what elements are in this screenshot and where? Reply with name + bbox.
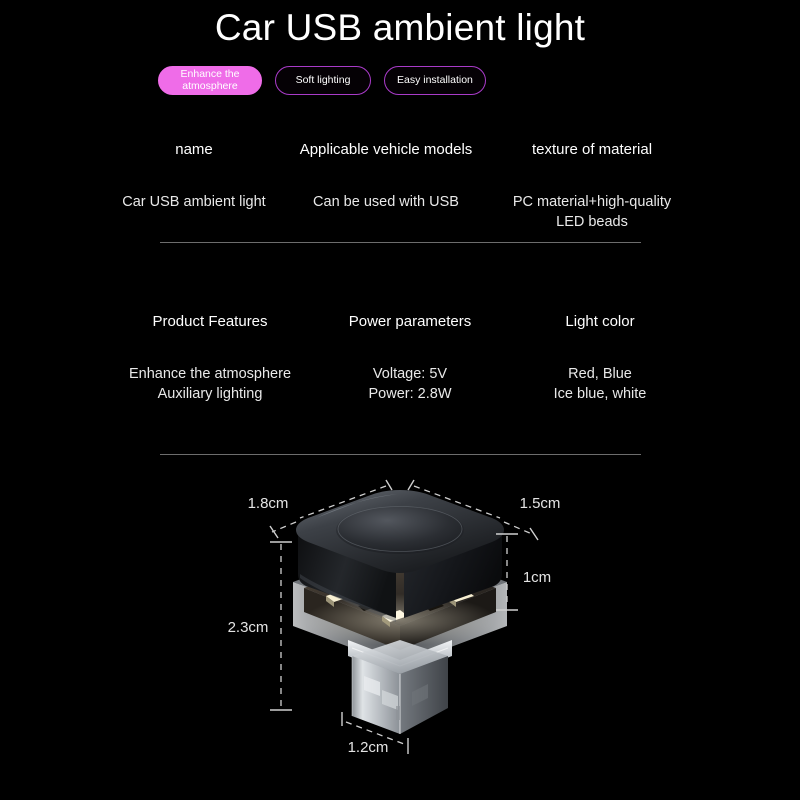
dimension-label-connector-width: 1.2cm: [348, 739, 389, 756]
spec-header-product-features: Product Features: [100, 312, 320, 332]
spec-value-texture-of-material: PC material+high-quality LED beads: [484, 192, 700, 232]
spec-header-name: name: [100, 140, 288, 160]
badge-enhance-the-atmosphere[interactable]: Enhance the atmosphere: [158, 66, 262, 95]
spec-table-features: Product Features Power parameters Light …: [100, 312, 700, 404]
spec-header-texture-of-material: texture of material: [484, 140, 700, 160]
dimension-label-top-right: 1.5cm: [520, 495, 561, 512]
spec-header-applicable-vehicle-models: Applicable vehicle models: [288, 140, 484, 160]
dimension-label-head-height: 1cm: [523, 569, 551, 586]
spec-value-row: Enhance the atmosphere Auxiliary lightin…: [100, 364, 700, 404]
spec-value-product-features: Enhance the atmosphere Auxiliary lightin…: [100, 364, 320, 404]
spec-value-power-parameters: Voltage: 5V Power: 2.8W: [320, 364, 500, 404]
spec-header-row: Product Features Power parameters Light …: [100, 312, 700, 332]
usb-connector: [352, 640, 448, 734]
spec-value-light-color: Red, Blue Ice blue, white: [500, 364, 700, 404]
spec-table-general: name Applicable vehicle models texture o…: [100, 140, 700, 232]
badge-soft-lighting[interactable]: Soft lighting: [275, 66, 371, 95]
spec-header-light-color: Light color: [500, 312, 700, 332]
page-title: Car USB ambient light: [0, 6, 800, 50]
section-divider-1: [160, 242, 641, 243]
dimension-label-total-height: 2.3cm: [228, 619, 269, 636]
spec-value-row: Car USB ambient light Can be used with U…: [100, 192, 700, 232]
badge-easy-installation[interactable]: Easy installation: [384, 66, 486, 95]
spec-value-applicable-vehicle-models: Can be used with USB: [288, 192, 484, 232]
product-illustration: 1.8cm 1.5cm 2.3cm 1cm 1.2cm: [0, 470, 800, 800]
dimension-label-top-left: 1.8cm: [248, 495, 289, 512]
spec-header-row: name Applicable vehicle models texture o…: [100, 140, 700, 160]
spec-value-name: Car USB ambient light: [100, 192, 288, 232]
feature-badge-row: Enhance the atmosphere Soft lighting Eas…: [158, 66, 486, 95]
section-divider-2: [160, 454, 641, 455]
spec-header-power-parameters: Power parameters: [320, 312, 500, 332]
product-dimension-diagram: 1.8cm 1.5cm 2.3cm 1cm 1.2cm: [0, 470, 800, 800]
